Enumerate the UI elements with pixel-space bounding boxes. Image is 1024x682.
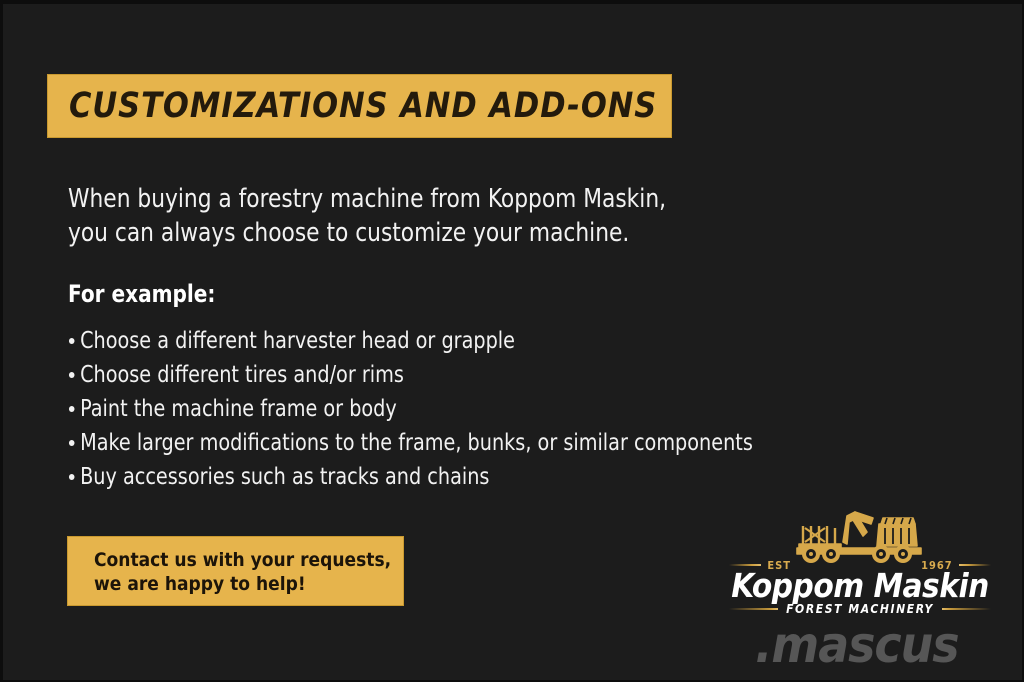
for-example-label: For example: xyxy=(68,280,215,308)
mascus-watermark: .mascus xyxy=(755,616,959,674)
list-item: Choose different tires and/or rims xyxy=(68,358,793,392)
list-item: Buy accessories such as tracks and chain… xyxy=(68,460,793,494)
forwarder-crane-icon xyxy=(781,502,941,564)
list-item: Choose a different harvester head or gra… xyxy=(68,324,793,358)
list-item: Make larger modifications to the frame, … xyxy=(68,426,793,460)
list-item-label: Choose a different harvester head or gra… xyxy=(80,328,515,354)
bullet-dot-icon xyxy=(69,474,75,480)
page-title: CUSTOMIZATIONS AND ADD-ONS xyxy=(69,86,657,126)
intro-line-2: you can always choose to customize your … xyxy=(68,216,719,250)
logo-tagline-rule-right xyxy=(942,608,991,610)
list-item-label: Make larger modifications to the frame, … xyxy=(80,430,753,456)
cta-line-2: we are happy to help! xyxy=(94,572,404,596)
intro-line-1: When buying a forestry machine from Kopp… xyxy=(68,182,719,216)
contact-cta-box[interactable]: Contact us with your requests, we are ha… xyxy=(67,536,404,606)
logo-wordmark: Koppom Maskin xyxy=(729,566,991,605)
list-item-label: Buy accessories such as tracks and chain… xyxy=(80,464,489,490)
bullet-dot-icon xyxy=(69,372,75,378)
header-banner: CUSTOMIZATIONS AND ADD-ONS xyxy=(47,74,672,138)
advertisement-slide: CUSTOMIZATIONS AND ADD-ONS When buying a… xyxy=(0,0,1024,682)
cta-line-1: Contact us with your requests, xyxy=(94,548,404,572)
koppom-maskin-logo: EST 1967 Koppom Maskin FOREST MACHINERY xyxy=(729,502,991,612)
bullet-dot-icon xyxy=(69,338,75,344)
logo-tagline-row: FOREST MACHINERY xyxy=(729,602,991,616)
bullet-dot-icon xyxy=(69,440,75,446)
intro-paragraph: When buying a forestry machine from Kopp… xyxy=(68,182,719,250)
logo-tagline: FOREST MACHINERY xyxy=(786,602,934,616)
bullet-dot-icon xyxy=(69,406,75,412)
customization-options-list: Choose a different harvester head or gra… xyxy=(68,324,793,494)
logo-tagline-rule-left xyxy=(729,608,778,610)
list-item: Paint the machine frame or body xyxy=(68,392,793,426)
list-item-label: Choose different tires and/or rims xyxy=(80,362,404,388)
list-item-label: Paint the machine frame or body xyxy=(80,396,397,422)
